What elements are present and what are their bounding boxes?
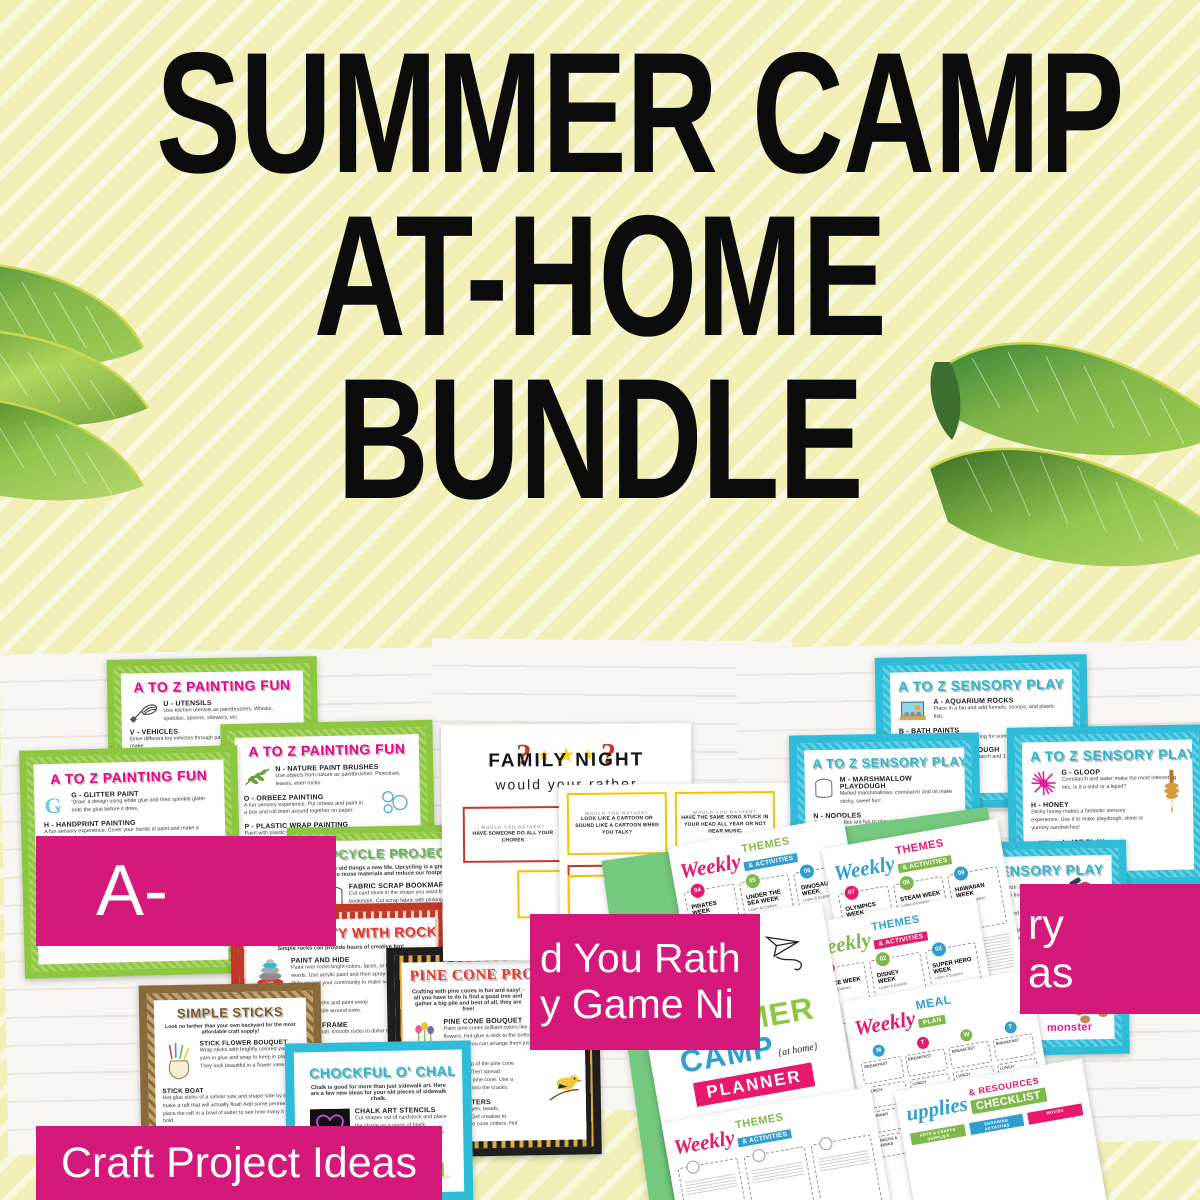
entry-body: Melted marshmallows, cornstarch and oil … xyxy=(840,789,957,807)
banner-sensory-ideas: ry as xyxy=(1020,884,1200,1014)
banner-rather-line2: y Game Ni xyxy=(540,982,734,1028)
themes-word: THEMES xyxy=(895,836,950,857)
entry-body: Place in a bin and add funnels, scoops, … xyxy=(934,704,1065,722)
week-box[interactable] xyxy=(744,1146,817,1200)
supplies-word: upplies xyxy=(904,1091,969,1126)
entry-body: Use objects from nature as paintbrushes.… xyxy=(275,770,411,789)
marshmallow-icon xyxy=(813,777,835,801)
week-number-placeholder xyxy=(818,1136,833,1151)
week-number: 04 xyxy=(690,883,706,899)
activities-chip: & ACTIVITIES xyxy=(744,853,798,871)
weekly-word: Weekly xyxy=(672,1125,737,1160)
checklist-category-chip[interactable]: ARTS & CRAFTS SUPPLIES xyxy=(910,1124,966,1146)
letter-g-glitter-icon: G xyxy=(43,793,68,818)
card-header: SIMPLE STICKS xyxy=(161,1004,299,1021)
honey-dipper-icon xyxy=(1154,768,1191,815)
week-number: 07 xyxy=(844,885,860,901)
week-number: 02 xyxy=(875,951,891,967)
themes-word: THEMES xyxy=(871,913,926,934)
week-box[interactable] xyxy=(677,1158,750,1200)
entry-body: Hot-glue sticks of a similar size and sh… xyxy=(162,1093,301,1127)
meal-day: W xyxy=(960,1028,974,1042)
banner-a-to-z: A- xyxy=(36,836,336,946)
page-title: SUMMER CAMP AT-HOME BUNDLE xyxy=(0,36,1200,516)
weekly-word: Weekly xyxy=(852,1006,917,1041)
leaf-sprig-icon xyxy=(243,766,271,787)
entry-body: A fun sensory experience. Put orbeez and… xyxy=(244,800,365,818)
meal-word: MEAL xyxy=(915,992,953,1012)
card-subtitle: Chalk is good for more than just sidewal… xyxy=(309,1083,447,1103)
rather-card[interactable]: WOULD YOU RATHER? LOOK LIKE A CARTOON OR… xyxy=(567,792,668,855)
meal-day: M xyxy=(872,1044,886,1058)
planner-cover-small: {at home} xyxy=(777,1041,818,1059)
week-number: 06 xyxy=(799,863,815,879)
card-subtitle: Look no farther than your own backyard f… xyxy=(161,1022,299,1036)
entry-body: Use kitchen utensils as paintbrushes. Wh… xyxy=(163,706,295,724)
week-number: 08 xyxy=(898,875,914,891)
week-box[interactable] xyxy=(810,1134,883,1200)
plan-chip: PLAN xyxy=(918,1015,946,1029)
weekly-word: Weekly xyxy=(678,849,743,884)
meal-day: T xyxy=(1003,1021,1017,1035)
svg-text:G: G xyxy=(44,793,62,817)
week-number-placeholder xyxy=(685,1160,700,1175)
stick-flower-bouquet-icon xyxy=(162,1041,197,1084)
entry-body: Sticky honey makes a fantastic sensory e… xyxy=(1031,807,1145,832)
title-line-1: SUMMER CAMP xyxy=(156,36,1044,191)
gloop-splat-icon xyxy=(1030,770,1056,796)
entry-body: 'Draw' a design using white glue and the… xyxy=(71,796,215,815)
week-number-placeholder xyxy=(752,1148,767,1163)
card-subtitle: Crafting with pine cones is fun and easy… xyxy=(410,987,527,1013)
checklist-category-chip[interactable]: ENGAGING ACTIVITIES xyxy=(969,1114,1025,1136)
meal-day: T xyxy=(916,1036,930,1050)
meal-cell[interactable]: BREAKFAST xyxy=(948,1041,992,1070)
meal-cell[interactable]: BREAKFAST xyxy=(992,1033,1036,1062)
sensory-footer-brand: monster xyxy=(1047,1021,1093,1034)
week-number: 05 xyxy=(744,873,760,889)
family-night-title: FAMILY NIGHT xyxy=(451,749,681,773)
card-header: A TO Z PAINTING FUN xyxy=(243,740,411,760)
banner-sensory-line2: as xyxy=(1028,949,1073,997)
banner-rather-line1: d You Rath xyxy=(540,936,741,982)
card-header: A TO Z PAINTING FUN xyxy=(129,677,295,696)
whisk-icon xyxy=(129,701,159,724)
themes-word: THEMES xyxy=(741,834,796,855)
banner-craft-text: Craft Project Ideas xyxy=(61,1139,417,1188)
rather-card[interactable]: WOULD YOU RATHER? HAVE SOMEONE DO ALL YO… xyxy=(463,806,563,863)
card-header: A TO Z SENSORY PLAY xyxy=(812,754,956,772)
weekly-word: Weekly xyxy=(832,851,897,886)
activities-chip: & ACTIVITIES xyxy=(738,1129,792,1147)
banner-would-you-rather: d You Rath y Game Ni xyxy=(530,914,760,1050)
product-mockup-collage: A TO Z PAINTING FUN U - UTENSILS Use kit… xyxy=(0,636,1200,1200)
banner-sensory-line1: ry xyxy=(1028,901,1064,949)
banner-craft-project-ideas: Craft Project Ideas xyxy=(36,1126,442,1200)
meal-cell[interactable]: BREAKFAST xyxy=(861,1056,905,1085)
themes-word: THEMES xyxy=(734,1110,789,1131)
week-number: 03 xyxy=(930,941,946,957)
week-number: 09 xyxy=(953,865,969,881)
title-line-2: AT-HOME xyxy=(156,199,1044,354)
rather-text: HAVE SOMEONE DO ALL YOUR CHORES xyxy=(468,830,558,845)
card-header: A TO Z SENSORY PLAY xyxy=(1030,746,1184,765)
checklist-category-chip[interactable]: MOVIES xyxy=(1027,1103,1083,1125)
title-line-3: BUNDLE xyxy=(156,362,1044,517)
meal-cell[interactable]: BREAKFAST xyxy=(904,1048,948,1077)
card-header: A TO Z SENSORY PLAY xyxy=(898,676,1064,695)
rather-text: LOOK LIKE A CARTOON OR SOUND LIKE A CART… xyxy=(572,816,662,838)
card-header: A TO Z PAINTING FUN xyxy=(43,767,215,787)
bubbles-icon xyxy=(378,788,413,815)
activities-chip: & ACTIVITIES xyxy=(874,931,928,949)
activities-chip: & ACTIVITIES xyxy=(898,855,952,873)
card-header: CHOCKFUL O' CHALK xyxy=(309,1063,447,1081)
aquarium-rocks-icon xyxy=(898,699,928,724)
banner-az-text: A- xyxy=(96,850,168,932)
bird-icon xyxy=(545,1069,584,1104)
